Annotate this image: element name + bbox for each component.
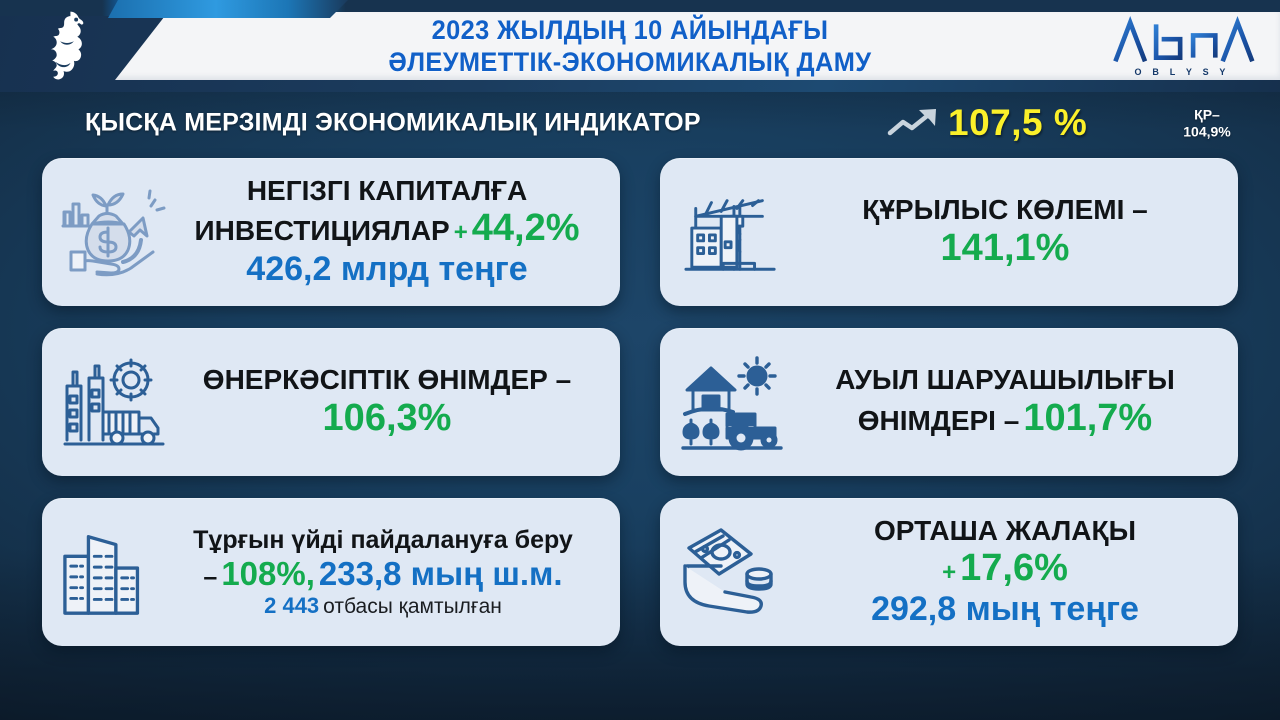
card-construction-percent: 141,1% xyxy=(941,226,1070,270)
card-industry-line-1: ӨНЕРКӘСІПТІК ӨНІМДЕР – xyxy=(203,364,571,396)
card-average-salary-line-2: + 17,6% xyxy=(942,547,1068,590)
card-housing-families-count: 2 443 xyxy=(264,593,319,619)
snow-leopard-emblem-icon xyxy=(28,6,106,88)
hand-cash-coins-icon xyxy=(672,516,792,628)
card-industry-body: ӨНЕРКӘСІПТІК ӨНІМДЕР – 106,3% xyxy=(174,364,606,441)
page-title-line-1: 2023 ЖЫЛДЫҢ 10 АЙЫНДАҒЫ xyxy=(432,15,829,46)
logo-subtitle: O B L Y S Y xyxy=(1134,67,1229,77)
card-agriculture[interactable]: АУЫЛ ШАРУАШЫЛЫҒЫ ӨНІМДЕРІ – 101,7% xyxy=(660,328,1238,476)
card-agriculture-percent: 101,7% xyxy=(1023,397,1152,440)
indicator-note-line-2: 104,9% xyxy=(1152,123,1262,140)
card-housing-line-2: – 108%, 233,8 мың ш.м. xyxy=(203,555,562,593)
indicator-value: 107,5 % xyxy=(948,102,1087,144)
short-term-economic-indicator-bar: ҚЫСҚА МЕРЗІМДІ ЭКОНОМИКАЛЫҚ ИНДИКАТОР 10… xyxy=(0,92,1280,154)
card-agriculture-line-1: АУЫЛ ШАРУАШЫЛЫҒЫ xyxy=(835,364,1175,396)
card-construction[interactable]: ҚҰРЫЛЫС КӨЛЕМІ – 141,1% xyxy=(660,158,1238,306)
farm-tractor-sun-icon xyxy=(672,346,792,458)
card-average-salary-line-1: ОРТАША ЖАЛАҚЫ xyxy=(874,515,1136,547)
card-agriculture-body: АУЫЛ ШАРУАШЫЛЫҒЫ ӨНІМДЕРІ – 101,7% xyxy=(792,364,1224,439)
card-housing-line-1: Тұрғын үйді пайдалануға беру xyxy=(193,526,573,555)
card-investments-amount: 426,2 млрд теңге xyxy=(246,250,527,289)
card-average-salary-amount: 292,8 мың теңге xyxy=(871,590,1139,629)
abai-oblysy-logo: O B L Y S Y xyxy=(1102,8,1262,84)
card-industry[interactable]: ӨНЕРКӘСІПТІК ӨНІМДЕР – 106,3% xyxy=(42,328,620,476)
indicator-label: ҚЫСҚА МЕРЗІМДІ ЭКОНОМИКАЛЫҚ ИНДИКАТОР xyxy=(85,109,701,138)
card-housing[interactable]: Тұрғын үйді пайдалануға беру – 108%, 233… xyxy=(42,498,620,646)
card-average-salary-percent: 17,6% xyxy=(960,547,1068,590)
factory-truck-gear-icon xyxy=(54,346,174,458)
indicator-national-note: ҚР– 104,9% xyxy=(1152,106,1262,139)
card-housing-percent: 108%, xyxy=(221,555,315,593)
card-investments[interactable]: НЕГІЗГІ КАПИТАЛҒА ИНВЕСТИЦИЯЛАР + 44,2% … xyxy=(42,158,620,306)
indicator-note-line-1: ҚР– xyxy=(1152,106,1262,123)
page-title: 2023 ЖЫЛДЫҢ 10 АЙЫНДАҒЫ ӘЛЕУМЕТТІК-ЭКОНО… xyxy=(200,8,1060,84)
card-construction-body: ҚҰРЫЛЫС КӨЛЕМІ – 141,1% xyxy=(792,194,1224,271)
card-housing-families-label: отбасы қамтылған xyxy=(323,595,502,619)
card-average-salary-plus-sign: + xyxy=(942,559,956,587)
trending-up-arrow-icon xyxy=(886,106,942,140)
indicator-cards-grid: НЕГІЗГІ КАПИТАЛҒА ИНВЕСТИЦИЯЛАР + 44,2% … xyxy=(42,158,1238,646)
card-investments-line-1: НЕГІЗГІ КАПИТАЛҒА xyxy=(247,175,527,207)
card-agriculture-label: ӨНІМДЕРІ – xyxy=(858,405,1020,437)
city-buildings-icon xyxy=(54,516,166,628)
page-title-line-2: ӘЛЕУМЕТТІК-ЭКОНОМИКАЛЫҚ ДАМУ xyxy=(389,47,872,78)
card-investments-label: ИНВЕСТИЦИЯЛАР xyxy=(194,215,449,247)
card-housing-line-3: 2 443 отбасы қамтылған xyxy=(264,593,502,619)
card-investments-body: НЕГІЗГІ КАПИТАЛҒА ИНВЕСТИЦИЯЛАР + 44,2% … xyxy=(174,175,606,290)
card-investments-plus-sign: + xyxy=(454,219,468,247)
card-average-salary[interactable]: ОРТАША ЖАЛАҚЫ + 17,6% 292,8 мың теңге xyxy=(660,498,1238,646)
card-housing-dash: – xyxy=(203,563,217,592)
hand-money-bag-growth-icon xyxy=(54,176,174,288)
card-housing-body: Тұрғын үйді пайдалануға беру – 108%, 233… xyxy=(166,526,606,619)
card-industry-percent: 106,3% xyxy=(323,396,452,440)
card-agriculture-line-2: ӨНІМДЕРІ – 101,7% xyxy=(858,397,1152,440)
page-header: 2023 ЖЫЛДЫҢ 10 АЙЫНДАҒЫ ӘЛЕУМЕТТІК-ЭКОНО… xyxy=(0,0,1280,92)
card-investments-percent: 44,2% xyxy=(472,207,580,250)
card-average-salary-body: ОРТАША ЖАЛАҚЫ + 17,6% 292,8 мың теңге xyxy=(792,515,1224,630)
card-housing-area: 233,8 мың ш.м. xyxy=(319,555,563,593)
card-construction-line-1: ҚҰРЫЛЫС КӨЛЕМІ – xyxy=(862,194,1147,226)
card-investments-line-2: ИНВЕСТИЦИЯЛАР + 44,2% xyxy=(194,207,579,250)
construction-crane-icon xyxy=(672,176,792,288)
